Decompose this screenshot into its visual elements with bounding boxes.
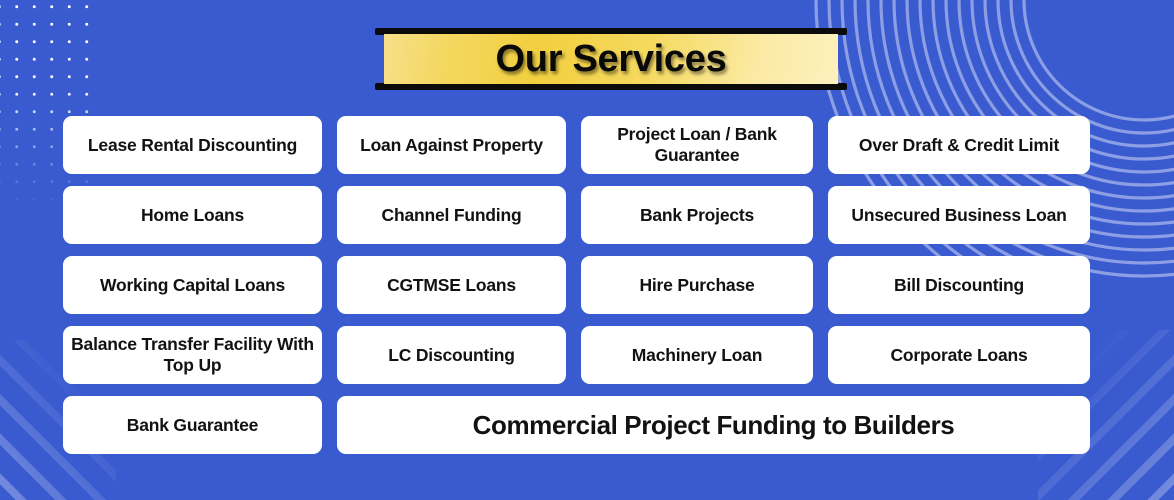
service-card[interactable]: Channel Funding bbox=[337, 186, 566, 244]
service-card-label: Balance Transfer Facility With Top Up bbox=[71, 334, 314, 375]
service-card-label: Bill Discounting bbox=[894, 275, 1024, 296]
service-card[interactable]: Balance Transfer Facility With Top Up bbox=[63, 326, 322, 384]
service-card[interactable]: Bank Projects bbox=[581, 186, 813, 244]
service-card[interactable]: Lease Rental Discounting bbox=[63, 116, 322, 174]
service-card-label: Hire Purchase bbox=[639, 275, 754, 296]
service-card-label: CGTMSE Loans bbox=[387, 275, 516, 296]
service-card[interactable]: Corporate Loans bbox=[828, 326, 1090, 384]
service-card-label: LC Discounting bbox=[388, 345, 515, 366]
service-card-label: Channel Funding bbox=[382, 205, 522, 226]
service-card[interactable]: CGTMSE Loans bbox=[337, 256, 566, 314]
service-card[interactable]: Machinery Loan bbox=[581, 326, 813, 384]
service-card[interactable]: Bill Discounting bbox=[828, 256, 1090, 314]
banner-gold-plate: Our Services bbox=[384, 34, 838, 84]
service-card[interactable]: Unsecured Business Loan bbox=[828, 186, 1090, 244]
services-grid: Lease Rental DiscountingLoan Against Pro… bbox=[63, 116, 1089, 454]
service-card[interactable]: Over Draft & Credit Limit bbox=[828, 116, 1090, 174]
service-card-label: Loan Against Property bbox=[360, 135, 543, 156]
service-card[interactable]: Hire Purchase bbox=[581, 256, 813, 314]
service-card-label: Working Capital Loans bbox=[100, 275, 285, 296]
service-card-label: Machinery Loan bbox=[632, 345, 762, 366]
service-card-label: Project Loan / Bank Guarantee bbox=[589, 124, 805, 165]
service-card[interactable]: LC Discounting bbox=[337, 326, 566, 384]
service-card-label: Home Loans bbox=[141, 205, 244, 226]
service-card-label: Lease Rental Discounting bbox=[88, 135, 297, 156]
service-card-label: Bank Guarantee bbox=[127, 415, 258, 436]
service-card[interactable]: Working Capital Loans bbox=[63, 256, 322, 314]
page-title: Our Services bbox=[384, 34, 838, 84]
service-card[interactable]: Loan Against Property bbox=[337, 116, 566, 174]
service-card-label: Corporate Loans bbox=[890, 345, 1027, 366]
service-card[interactable]: Project Loan / Bank Guarantee bbox=[581, 116, 813, 174]
banner-bar-bottom bbox=[375, 83, 847, 90]
service-card-label: Unsecured Business Loan bbox=[851, 205, 1066, 226]
service-card[interactable]: Commercial Project Funding to Builders bbox=[337, 396, 1090, 454]
service-card-label: Commercial Project Funding to Builders bbox=[473, 410, 955, 441]
service-card-label: Bank Projects bbox=[640, 205, 754, 226]
service-card[interactable]: Bank Guarantee bbox=[63, 396, 322, 454]
service-card-label: Over Draft & Credit Limit bbox=[859, 135, 1059, 156]
service-card[interactable]: Home Loans bbox=[63, 186, 322, 244]
title-banner: Our Services bbox=[375, 28, 847, 90]
services-poster: Our Services Lease Rental DiscountingLoa… bbox=[0, 0, 1174, 500]
